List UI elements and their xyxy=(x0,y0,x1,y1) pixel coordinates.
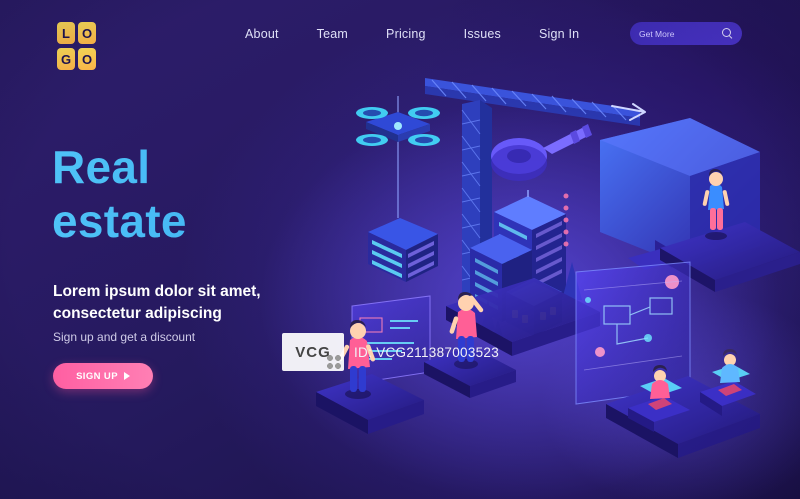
isometric-illustration xyxy=(0,0,800,499)
watermark: VCG ID: VCG211387003523 xyxy=(282,330,534,374)
drone-icon xyxy=(356,107,440,146)
watermark-logo: VCG xyxy=(282,333,344,371)
sign-up-button[interactable]: SIGN UP xyxy=(53,363,153,389)
page-title: Real estate xyxy=(52,140,352,249)
logo-letter: L xyxy=(57,22,75,44)
sign-up-label: SIGN UP xyxy=(76,371,118,382)
landing-page: L O G O About Team Pricing Issues Sign I… xyxy=(0,0,800,499)
logo-letter: O xyxy=(78,48,96,70)
nav-item-pricing[interactable]: Pricing xyxy=(386,27,426,41)
logo-letter: O xyxy=(78,22,96,44)
main-nav: About Team Pricing Issues Sign In xyxy=(245,27,579,41)
watermark-id: ID: VCG211387003523 xyxy=(354,345,499,360)
logo[interactable]: L O G O xyxy=(57,22,119,72)
logo-letter: G xyxy=(57,48,75,70)
nav-item-about[interactable]: About xyxy=(245,27,279,41)
hero-subtitle: Lorem ipsum dolor sit amet, consectetur … xyxy=(53,281,323,326)
title-line-2: estate xyxy=(52,195,187,247)
search-button[interactable]: Get More xyxy=(630,22,742,45)
nav-item-sign-in[interactable]: Sign In xyxy=(539,27,579,41)
title-line-1: Real xyxy=(52,141,150,193)
play-triangle-icon xyxy=(124,372,130,380)
search-label: Get More xyxy=(639,29,674,39)
search-icon xyxy=(722,28,733,39)
nav-item-team[interactable]: Team xyxy=(317,27,348,41)
nav-item-issues[interactable]: Issues xyxy=(464,27,501,41)
